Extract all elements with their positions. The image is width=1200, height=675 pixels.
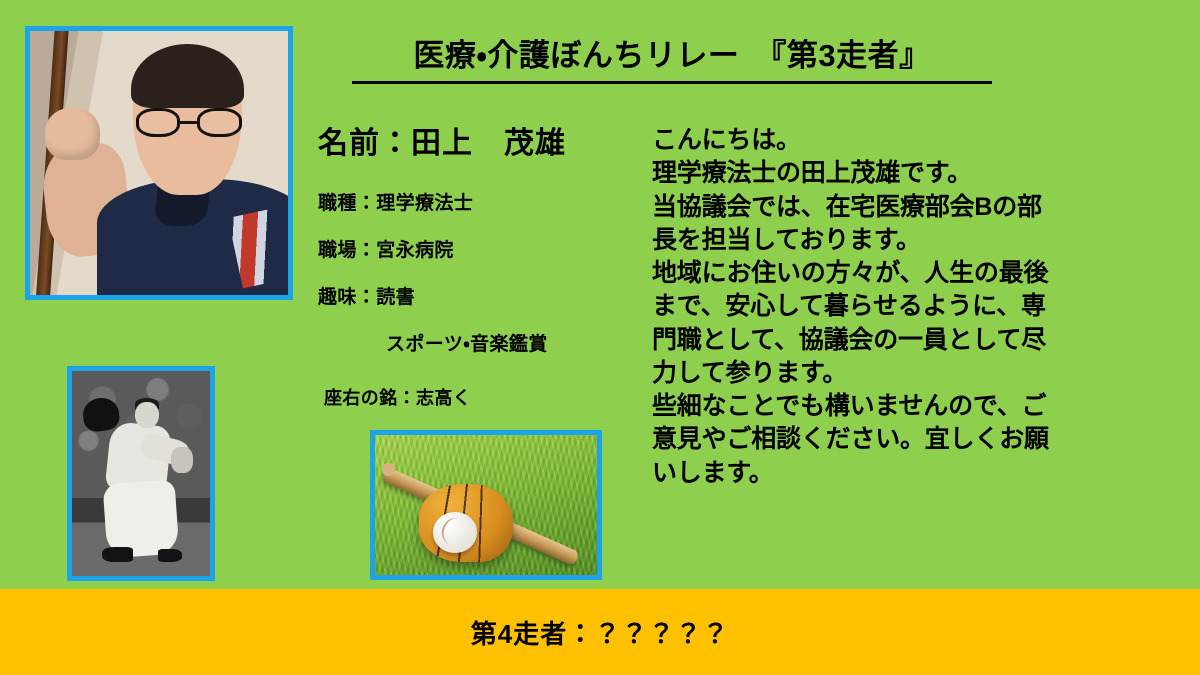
glasses-icon (136, 108, 242, 137)
profile-workplace: 職場：宮永病院 (318, 235, 648, 262)
profile-name: 名前：田上 茂雄 (318, 118, 648, 162)
profile-hobby: 趣味：読書 (318, 282, 648, 309)
baseball-gear-photo (370, 430, 602, 580)
profile-hobby-second: スポーツ・音楽鑑賞 (386, 329, 648, 356)
batter-head (135, 402, 158, 429)
portrait-photo-image (30, 31, 288, 295)
baseball-ball (433, 512, 477, 553)
baseball-gear-photo-image (375, 435, 597, 575)
portrait-fist (45, 108, 99, 161)
baseball-seam (439, 515, 473, 550)
baseball-bat-knob (382, 463, 395, 476)
slide-canvas: 医療・介護ぼんちリレー 『第3走者』 (0, 0, 1200, 675)
baseball-batter-photo (67, 366, 215, 581)
batter-hands (171, 447, 193, 474)
profile-block: 名前：田上 茂雄 職種：理学療法士 職場：宮永病院 趣味：読書 スポーツ・音楽鑑… (318, 118, 648, 410)
portrait-photo (25, 26, 293, 300)
next-runner-banner: 第4走者：？？？？？ (0, 589, 1200, 675)
batter-shoe-left (102, 547, 132, 561)
page-title: 医療・介護ぼんちリレー 『第3走者』 (352, 38, 992, 84)
profile-job-type: 職種：理学療法士 (318, 188, 648, 215)
baseball-batter-photo-image (72, 371, 210, 576)
greeting-message: こんにちは。 理学療法士の田上茂雄です。 当協議会では、在宅医療部会Bの部長を担… (652, 124, 1052, 490)
batter-legs (103, 479, 180, 558)
profile-motto: 座右の銘：志高く (324, 384, 648, 410)
next-runner-label: 第4走者：？？？？？ (471, 614, 729, 651)
batter-shoe-right (158, 549, 183, 561)
